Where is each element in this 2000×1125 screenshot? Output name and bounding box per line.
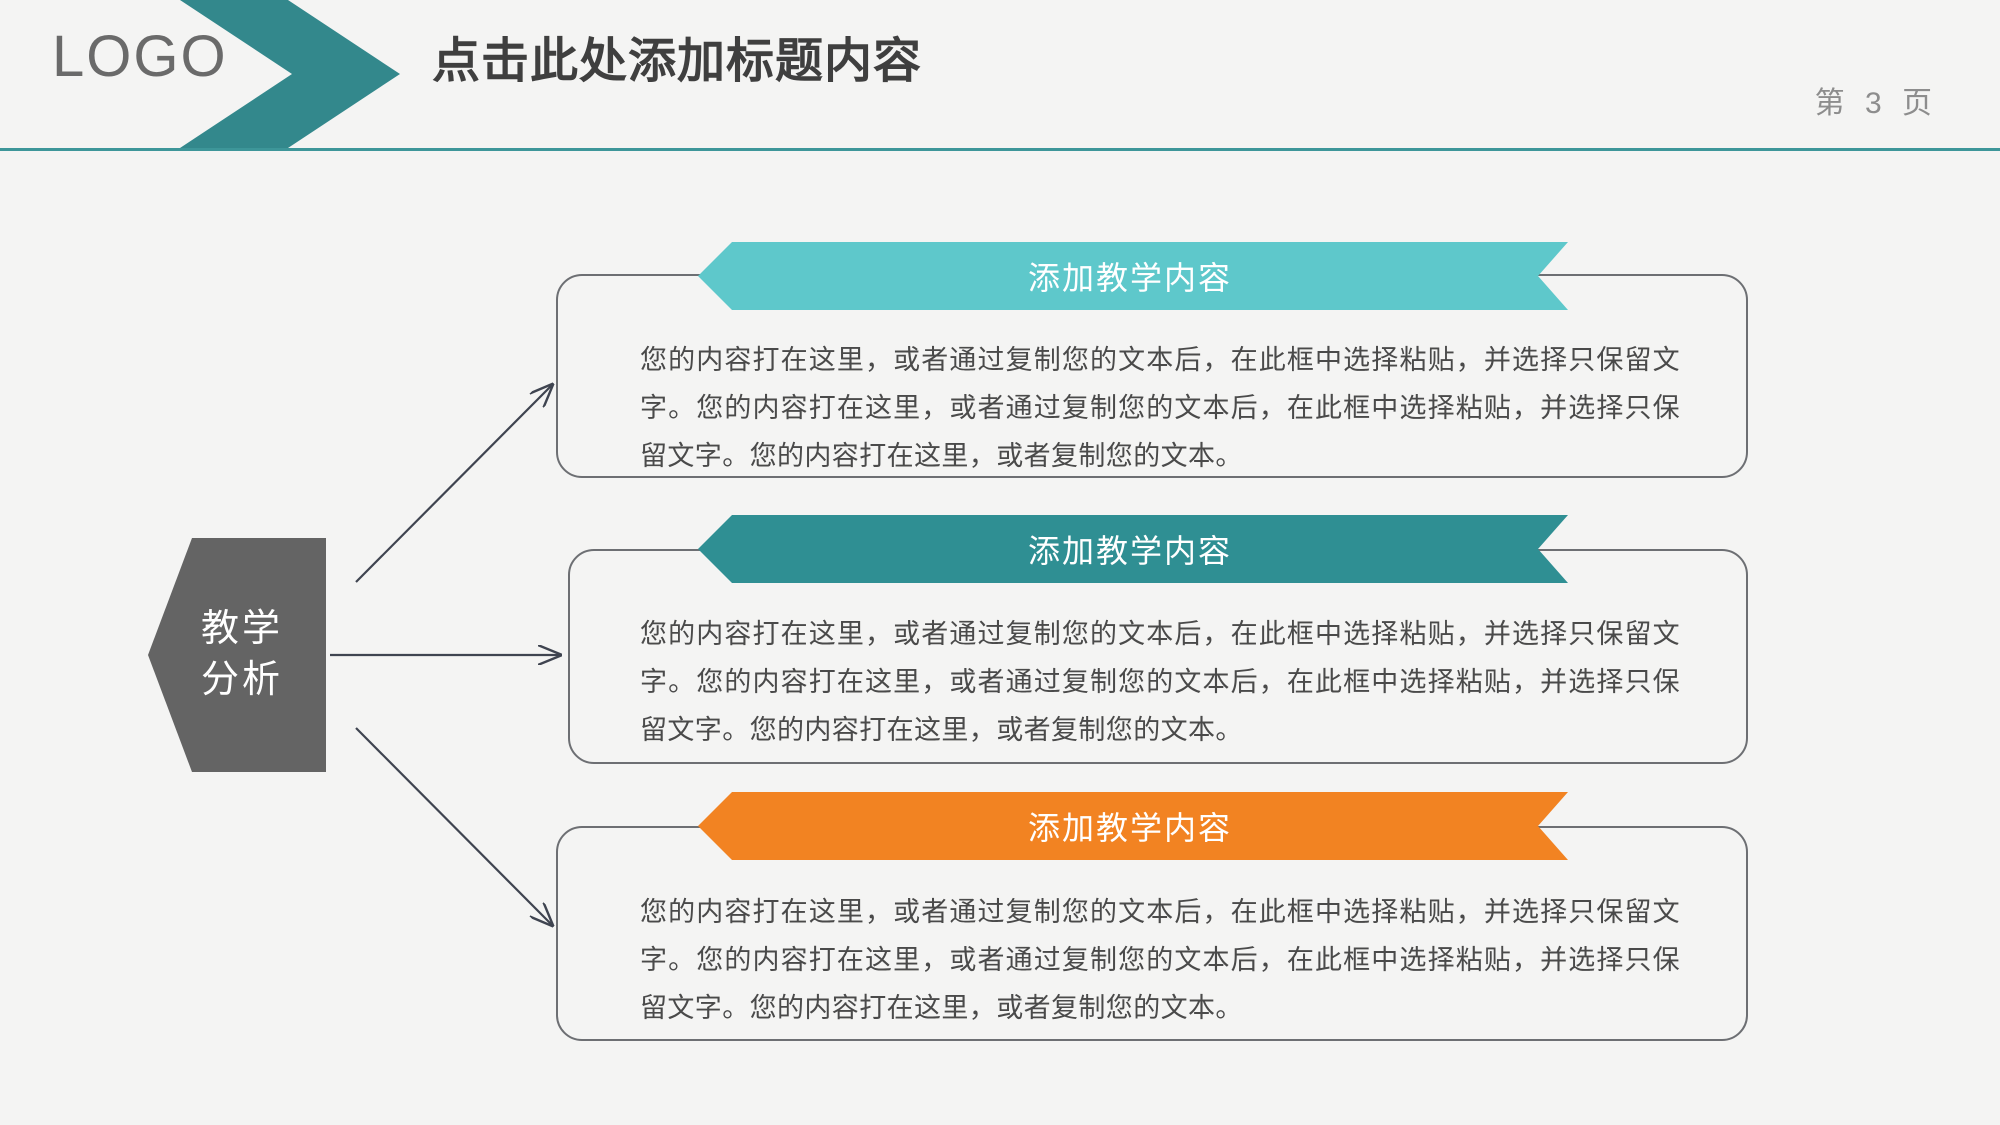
logo[interactable]: LOGO [52,28,228,86]
card-banner[interactable]: 添加教学内容 [698,792,1568,860]
card-body-text: 您的内容打在这里，或者通过复制您的文本后，在此框中选择粘贴，并选择只保留文字。您… [640,610,1680,754]
header-divider [0,148,2000,151]
hexagon-label: 教学 分析 [148,538,326,772]
page-number: 第 3 页 [1815,78,1938,122]
hexagon-label-line1: 教学 [201,604,283,655]
card-banner-label: 添加教学内容 [698,792,1568,860]
card-body-text: 您的内容打在这里，或者通过复制您的文本后，在此框中选择粘贴，并选择只保留文字。您… [640,336,1680,480]
card-banner-label: 添加教学内容 [698,242,1568,310]
page-title: 点击此处添加标题内容 [432,36,922,89]
hexagon-label-line2: 分析 [201,655,283,706]
card-banner[interactable]: 添加教学内容 [698,515,1568,583]
card-body-text: 您的内容打在这里，或者通过复制您的文本后，在此框中选择粘贴，并选择只保留文字。您… [640,888,1680,1032]
hexagon-node[interactable]: 教学 分析 [148,538,326,772]
card-banner[interactable]: 添加教学内容 [698,242,1568,310]
slide-header: LOGO 点击此处添加标题内容 第 3 页 [0,0,2000,150]
connector-line-3 [356,728,552,925]
card-banner-label: 添加教学内容 [698,515,1568,583]
connector-line-1 [356,385,552,582]
